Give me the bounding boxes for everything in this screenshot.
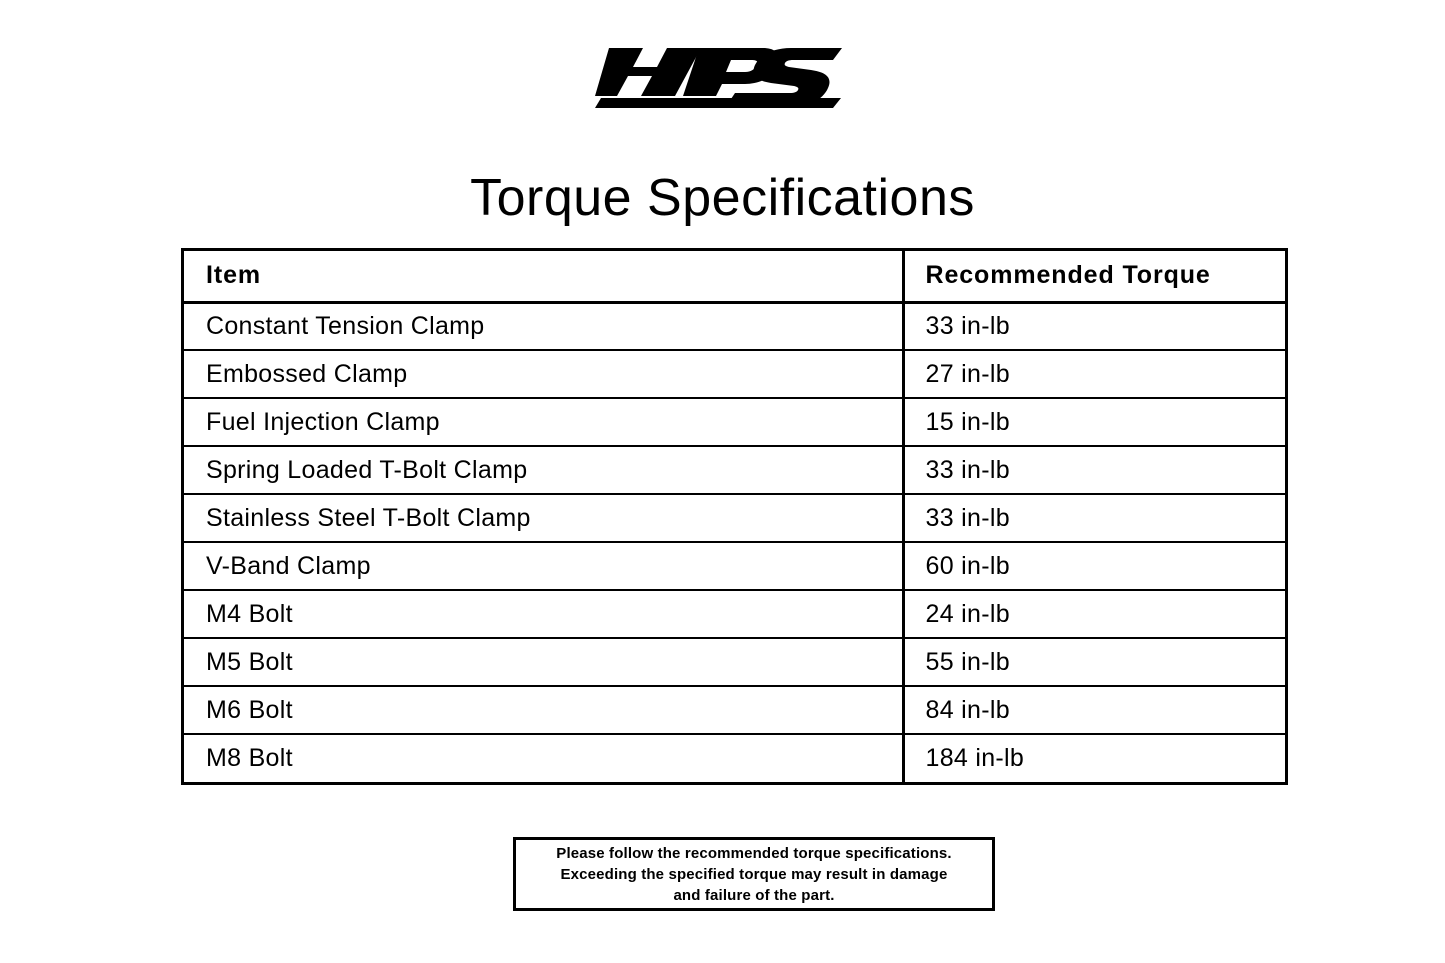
hps-logo: [595, 38, 845, 108]
cell-torque: 33 in-lb: [903, 494, 1285, 542]
table-header-row: Item Recommended Torque: [184, 251, 1285, 302]
table-row: Embossed Clamp 27 in-lb: [184, 350, 1285, 398]
torque-spec-table: Item Recommended Torque Constant Tension…: [181, 248, 1288, 785]
table-row: Spring Loaded T-Bolt Clamp 33 in-lb: [184, 446, 1285, 494]
table-row: M4 Bolt 24 in-lb: [184, 590, 1285, 638]
table-row: Fuel Injection Clamp 15 in-lb: [184, 398, 1285, 446]
column-header-torque: Recommended Torque: [903, 251, 1285, 302]
cell-torque: 27 in-lb: [903, 350, 1285, 398]
cell-item: M6 Bolt: [184, 686, 903, 734]
note-line: Please follow the recommended torque spe…: [556, 843, 951, 864]
page-title: Torque Specifications: [0, 167, 1445, 229]
cell-item: M5 Bolt: [184, 638, 903, 686]
cell-torque: 60 in-lb: [903, 542, 1285, 590]
note-line: Exceeding the specified torque may resul…: [561, 864, 948, 885]
cell-item: Spring Loaded T-Bolt Clamp: [184, 446, 903, 494]
note-line: and failure of the part.: [673, 885, 834, 906]
cell-item: V-Band Clamp: [184, 542, 903, 590]
cell-torque: 184 in-lb: [903, 734, 1285, 782]
cell-torque: 33 in-lb: [903, 302, 1285, 350]
cell-torque: 33 in-lb: [903, 446, 1285, 494]
cell-item: Constant Tension Clamp: [184, 302, 903, 350]
warning-note-box: Please follow the recommended torque spe…: [513, 837, 995, 911]
cell-item: Fuel Injection Clamp: [184, 398, 903, 446]
table-row: M8 Bolt 184 in-lb: [184, 734, 1285, 782]
cell-item: Embossed Clamp: [184, 350, 903, 398]
cell-torque: 24 in-lb: [903, 590, 1285, 638]
cell-item: Stainless Steel T-Bolt Clamp: [184, 494, 903, 542]
table-row: Constant Tension Clamp 33 in-lb: [184, 302, 1285, 350]
table-row: M5 Bolt 55 in-lb: [184, 638, 1285, 686]
cell-torque: 15 in-lb: [903, 398, 1285, 446]
hps-logo-icon: [595, 38, 845, 108]
table-row: M6 Bolt 84 in-lb: [184, 686, 1285, 734]
column-header-item: Item: [184, 251, 903, 302]
cell-item: M4 Bolt: [184, 590, 903, 638]
table-row: Stainless Steel T-Bolt Clamp 33 in-lb: [184, 494, 1285, 542]
table-row: V-Band Clamp 60 in-lb: [184, 542, 1285, 590]
cell-torque: 55 in-lb: [903, 638, 1285, 686]
cell-torque: 84 in-lb: [903, 686, 1285, 734]
cell-item: M8 Bolt: [184, 734, 903, 782]
